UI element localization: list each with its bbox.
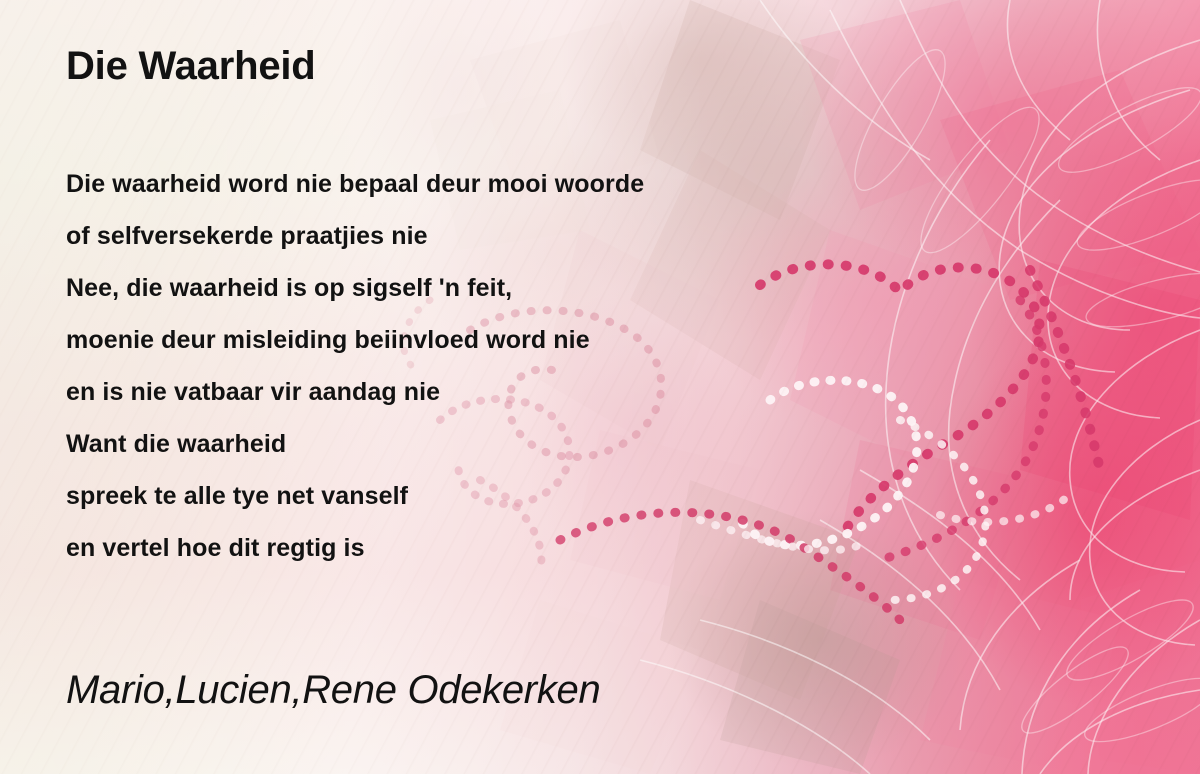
poem-line: spreek te alle tye net vanself	[66, 470, 644, 522]
poem-content: Die Waarheid Die waarheid word nie bepaa…	[0, 0, 1200, 774]
poem-line: Die waarheid word nie bepaal deur mooi w…	[66, 158, 644, 210]
poem-line: en is nie vatbaar vir aandag nie	[66, 366, 644, 418]
poem-line: en vertel hoe dit regtig is	[66, 522, 644, 574]
poem-image-card: Die Waarheid Die waarheid word nie bepaa…	[0, 0, 1200, 774]
poem-line: of selfversekerde praatjies nie	[66, 210, 644, 262]
poem-line: Want die waarheid	[66, 418, 644, 470]
poem-title: Die Waarheid	[66, 44, 316, 89]
poem-line: Nee, die waarheid is op sigself 'n feit,	[66, 262, 644, 314]
poem-author-byline: Mario,Lucien,Rene Odekerken	[66, 668, 600, 713]
poem-body: Die waarheid word nie bepaal deur mooi w…	[66, 158, 644, 574]
poem-line: moenie deur misleiding beiinvloed word n…	[66, 314, 644, 366]
